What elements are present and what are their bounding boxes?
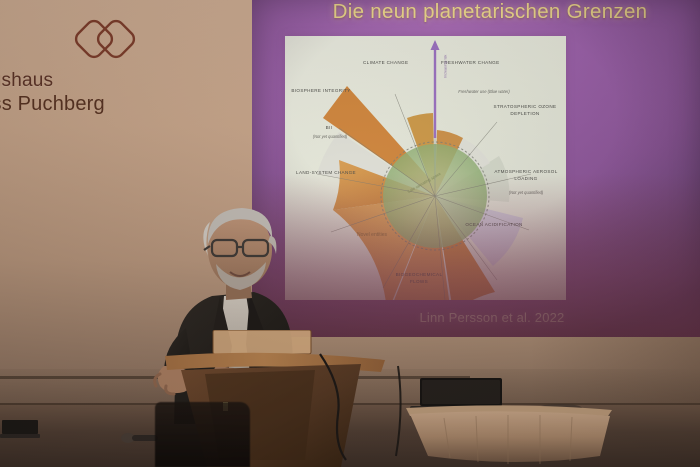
venue-name-line1: ldungshaus — [0, 70, 154, 92]
venue-name-line2: chloss Puchberg — [0, 93, 154, 116]
photo-scene: ldungshaus chloss Puchberg Die neun plan… — [0, 0, 700, 467]
floor-prop-left — [0, 418, 120, 448]
foreground-shadow-mass — [155, 402, 250, 467]
venue-sign: ldungshaus chloss Puchberg — [0, 8, 154, 128]
side-table-with-laptop — [400, 378, 700, 467]
confidence-monitor — [213, 330, 311, 354]
interlocking-diamonds-logo-icon — [74, 12, 136, 70]
